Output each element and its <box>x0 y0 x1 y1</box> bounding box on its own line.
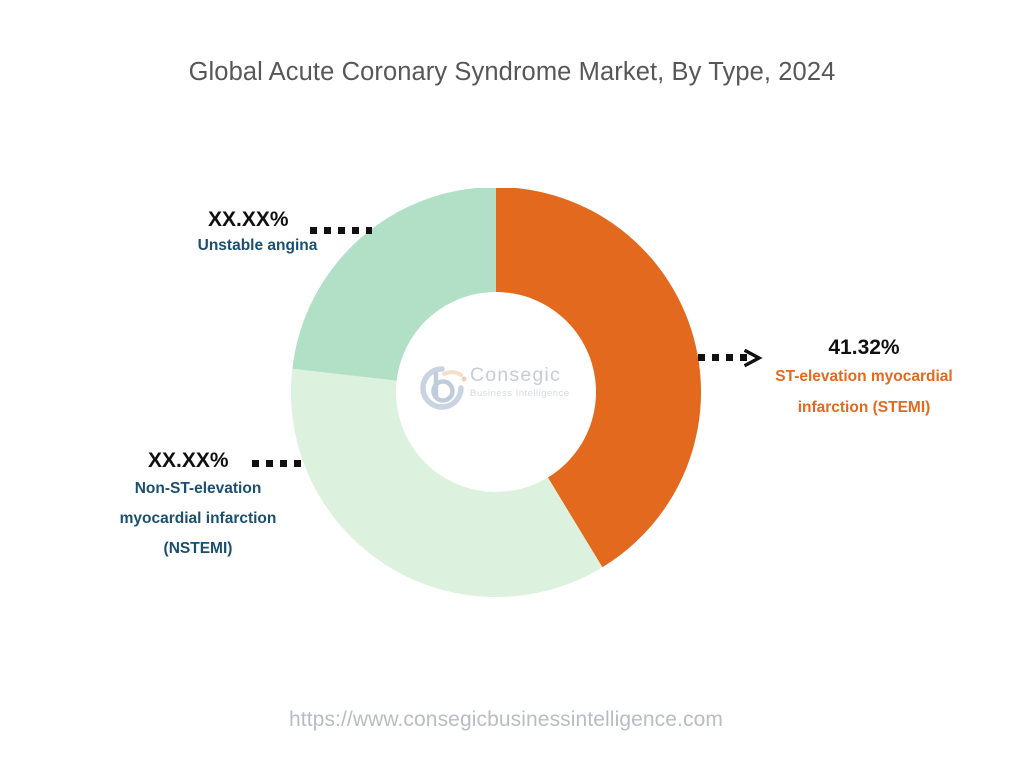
slice-percent-nstemi: XX.XX% <box>78 448 318 474</box>
slice-label-stemi: 41.32% ST-elevation myocardial infarctio… <box>714 335 1014 423</box>
slice-name-nstemi-line1: Non-ST-elevation <box>78 474 318 504</box>
slice-name-stemi-line2: infarction (STEMI) <box>714 392 1014 423</box>
slice-name-nstemi-line2: myocardial infarction <box>78 504 318 534</box>
slice-name-unstable-angina: Unstable angina <box>150 233 365 258</box>
slice-percent-stemi: 41.32% <box>714 335 1014 361</box>
donut-hole <box>396 292 596 492</box>
footer-source-url: https://www.consegicbusinessintelligence… <box>0 708 1024 732</box>
slice-name-nstemi-line3: (NSTEMI) <box>78 534 318 564</box>
slice-label-unstable-angina: XX.XX% Unstable angina <box>150 207 365 258</box>
slice-label-nstemi: XX.XX% Non-ST-elevation myocardial infar… <box>78 448 318 564</box>
page-title: Global Acute Coronary Syndrome Market, B… <box>0 58 1024 87</box>
chart-canvas: Global Acute Coronary Syndrome Market, B… <box>0 0 1024 768</box>
slice-percent-unstable-angina: XX.XX% <box>150 207 365 233</box>
slice-name-stemi-line1: ST-elevation myocardial <box>714 361 1014 392</box>
